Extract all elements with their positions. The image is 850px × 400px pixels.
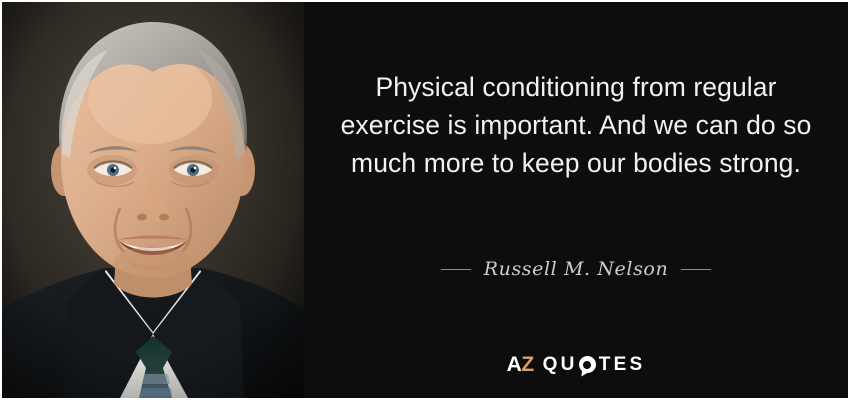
attribution: Russell M. Nelson [304, 258, 848, 280]
attribution-dash-right [681, 269, 711, 270]
logo-letter-a: A [507, 353, 522, 376]
author-portrait-photo [2, 2, 304, 398]
logo-quotes-word: QU TES [543, 355, 646, 374]
author-name: Russell M. Nelson [484, 258, 669, 280]
logo-quotes-prefix: QU [543, 355, 578, 374]
attribution-dash-left [441, 269, 471, 270]
speech-bubble-icon [579, 356, 596, 373]
logo-quotes-suffix: TES [599, 355, 646, 374]
quote-card: Physical conditioning from regular exerc… [0, 0, 850, 400]
logo-az-mark: AZ [507, 354, 534, 375]
speech-bubble-hole [583, 361, 591, 369]
logo-letter-z: Z [521, 353, 533, 376]
quote-text: Physical conditioning from regular exerc… [330, 68, 822, 182]
portrait-illustration [2, 2, 304, 398]
azquotes-logo[interactable]: AZ QU TES [304, 354, 848, 375]
quote-panel: Physical conditioning from regular exerc… [304, 2, 848, 398]
